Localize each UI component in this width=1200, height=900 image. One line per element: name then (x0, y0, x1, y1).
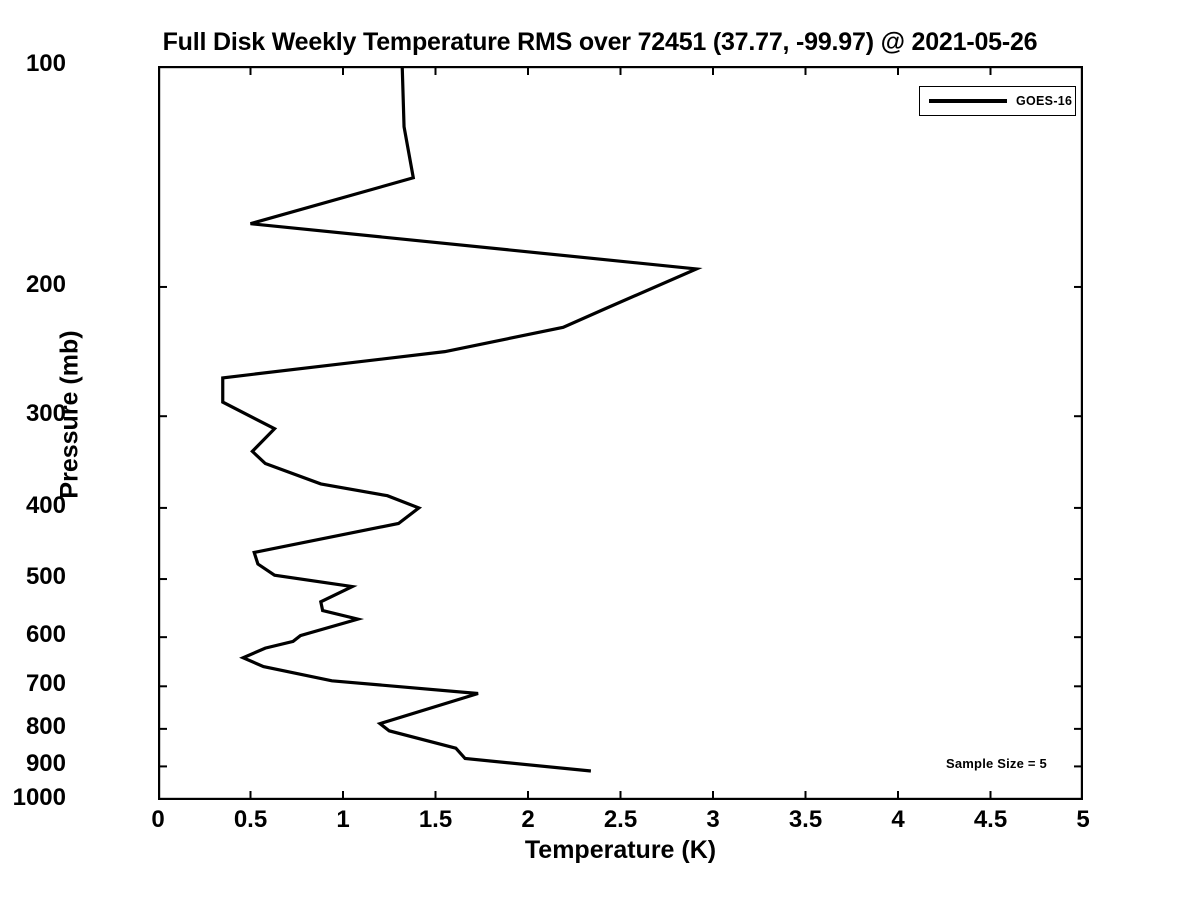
y-tick-label: 700 (26, 670, 66, 698)
y-tick-label: 100 (26, 50, 66, 78)
x-tick-label: 0.5 (201, 806, 301, 834)
y-tick-label: 500 (26, 563, 66, 591)
data-plot-svg (158, 66, 1083, 800)
legend: GOES-16 (919, 86, 1076, 116)
x-tick-label: 3 (663, 806, 763, 834)
sample-size-annotation: Sample Size = 5 (946, 756, 1047, 771)
legend-label-goes16: GOES-16 (1016, 94, 1072, 108)
data-line-goes-16 (223, 66, 697, 771)
x-tick-label: 1 (293, 806, 393, 834)
y-tick-label: 1000 (13, 784, 66, 812)
x-tick-label: 4 (848, 806, 948, 834)
x-axis-label: Temperature (K) (158, 836, 1083, 865)
y-tick-label: 200 (26, 271, 66, 299)
y-tick-label: 800 (26, 713, 66, 741)
x-tick-label: 0 (108, 806, 208, 834)
x-tick-label: 2 (478, 806, 578, 834)
y-tick-label: 300 (26, 400, 66, 428)
plot-area (158, 66, 1083, 800)
y-tick-label: 900 (26, 750, 66, 778)
x-tick-label: 1.5 (386, 806, 486, 834)
x-tick-label: 4.5 (941, 806, 1041, 834)
y-tick-label: 600 (26, 621, 66, 649)
x-tick-label: 3.5 (756, 806, 856, 834)
legend-line-goes16 (929, 99, 1007, 103)
chart-figure: Full Disk Weekly Temperature RMS over 72… (0, 0, 1200, 900)
x-tick-label: 5 (1033, 806, 1133, 834)
chart-title: Full Disk Weekly Temperature RMS over 72… (0, 28, 1200, 57)
x-tick-label: 2.5 (571, 806, 671, 834)
y-tick-label: 400 (26, 492, 66, 520)
axes-frame (159, 67, 1082, 799)
